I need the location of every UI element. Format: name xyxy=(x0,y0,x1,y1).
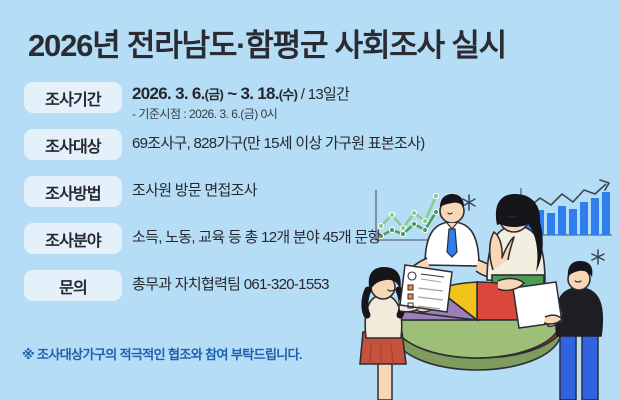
page-title: 2026년 전라남도·함평군 사회조사 실시 xyxy=(28,20,598,65)
label-box-contact: 문의 xyxy=(24,270,122,301)
value-period: 2026. 3. 6.(금) ~ 3. 18.(수) / 13일간 xyxy=(132,81,349,108)
label-text-fields: 조사분야 xyxy=(45,227,101,251)
value-target: 69조사구, 828가구(만 15세 이상 가구원 표본조사) xyxy=(132,127,425,161)
label-text-period: 조사기간 xyxy=(45,86,101,110)
label-box-target: 조사대상 xyxy=(24,129,122,160)
period-range: ~ 3. 18. xyxy=(223,84,279,103)
label-box-method: 조사방법 xyxy=(24,176,122,207)
period-start-weekday: (금) xyxy=(205,87,224,102)
label-text-contact: 문의 xyxy=(59,274,87,298)
value-method: 조사원 방문 면접조사 xyxy=(132,174,257,208)
footnote-text: ※ 조사대상가구의 적극적인 협조와 참여 부탁드립니다. xyxy=(22,344,302,363)
value-contact: 총무과 자치협력팀 061-320-1553 xyxy=(132,268,329,302)
period-start: 2026. 3. 6. xyxy=(132,84,205,103)
poster-root: 2026년 전라남도·함평군 사회조사 실시 조사기간 2026. 3. 6.(… xyxy=(0,0,620,400)
survey-form-paper xyxy=(400,265,452,312)
label-text-method: 조사방법 xyxy=(45,180,101,204)
label-box-fields: 조사분야 xyxy=(24,223,122,254)
clipboard xyxy=(513,282,562,328)
period-end-weekday: (수) xyxy=(279,87,298,102)
period-reference-note: - 기준시점 : 2026. 3. 6.(금) 0시 xyxy=(132,105,277,122)
label-text-target: 조사대상 xyxy=(45,133,101,157)
period-duration: / 13일간 xyxy=(297,86,349,103)
label-box-period: 조사기간 xyxy=(24,82,122,113)
value-fields: 소득, 노동, 교육 등 총 12개 분야 45개 문항 xyxy=(132,221,381,255)
